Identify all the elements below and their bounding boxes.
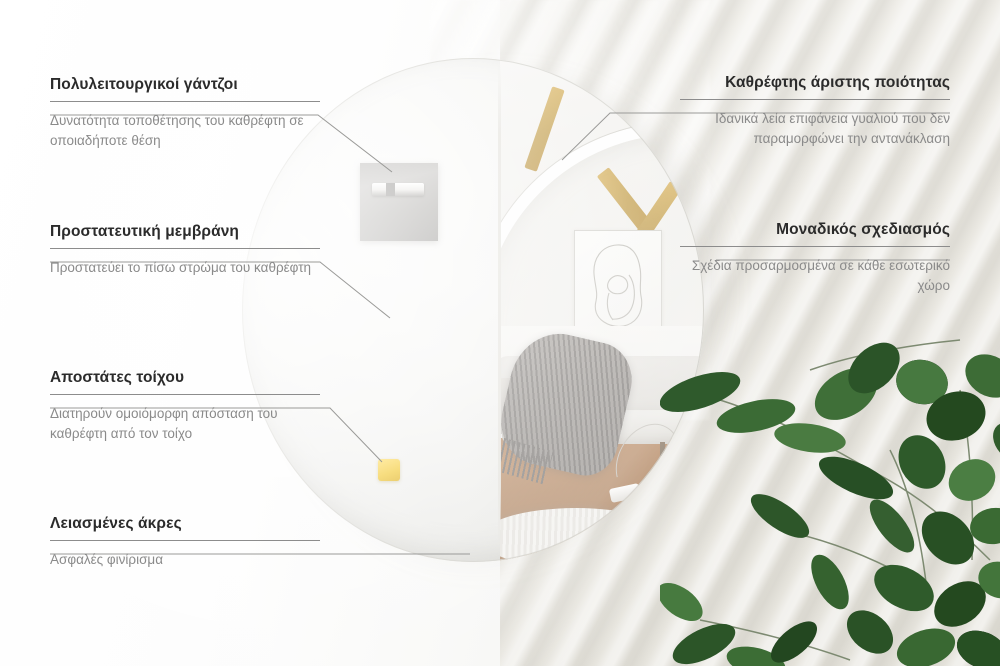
callout-body: Σχέδια προσαρμοσμένα σε κάθε εσωτερικό χ… xyxy=(680,256,950,295)
mirror-half-split-seam xyxy=(498,64,501,556)
callout-body: Διατηρούν ομοιόμορφη απόσταση του καθρέφ… xyxy=(50,404,320,443)
callout-body: Προστατεύει το πίσω στρώμα του καθρέφτη xyxy=(50,258,320,278)
callout-protective-membrane: Προστατευτική μεμβράνη Προστατεύει το πί… xyxy=(50,223,320,278)
callout-rule xyxy=(680,246,950,247)
hook-notch-icon xyxy=(386,183,395,196)
green-leaf-branches xyxy=(660,330,1000,666)
callout-top-quality-mirror: Καθρέφτης άριστης ποιότητας Ιδανικά λεία… xyxy=(680,74,950,148)
callout-body: Ασφαλές φινίρισμα xyxy=(50,550,320,570)
hook-slot-icon xyxy=(372,183,424,196)
callout-title: Μοναδικός σχεδιασμός xyxy=(680,221,950,239)
callout-rule xyxy=(680,99,950,100)
callout-rule xyxy=(50,248,320,249)
yellow-wall-spacer xyxy=(378,459,400,481)
callout-body: Ιδανικά λεία επιφάνεια γυαλιού που δεν π… xyxy=(680,109,950,148)
callout-multifunctional-hooks: Πολυλειτουργικοί γάντζοι Δυνατότητα τοπο… xyxy=(50,76,320,150)
callout-title: Λειασμένες άκρες xyxy=(50,515,320,533)
callout-rule xyxy=(50,394,320,395)
reflected-round-rug xyxy=(490,508,672,562)
callout-rule xyxy=(50,540,320,541)
callout-rule xyxy=(50,101,320,102)
callout-title: Αποστάτες τοίχου xyxy=(50,369,320,387)
infographic-canvas: Πολυλειτουργικοί γάντζοι Δυνατότητα τοπο… xyxy=(0,0,1000,666)
callout-title: Καθρέφτης άριστης ποιότητας xyxy=(680,74,950,92)
callout-smoothed-edges: Λειασμένες άκρες Ασφαλές φινίρισμα xyxy=(50,515,320,570)
callout-wall-spacers: Αποστάτες τοίχου Διατηρούν ομοιόμορφη απ… xyxy=(50,369,320,443)
callout-body: Δυνατότητα τοποθέτησης του καθρέφτη σε ο… xyxy=(50,111,320,150)
callout-title: Πολυλειτουργικοί γάντζοι xyxy=(50,76,320,94)
callout-unique-design: Μοναδικός σχεδιασμός Σχέδια προσαρμοσμέν… xyxy=(680,221,950,295)
callout-title: Προστατευτική μεμβράνη xyxy=(50,223,320,241)
mounting-hook-plate xyxy=(360,163,438,241)
